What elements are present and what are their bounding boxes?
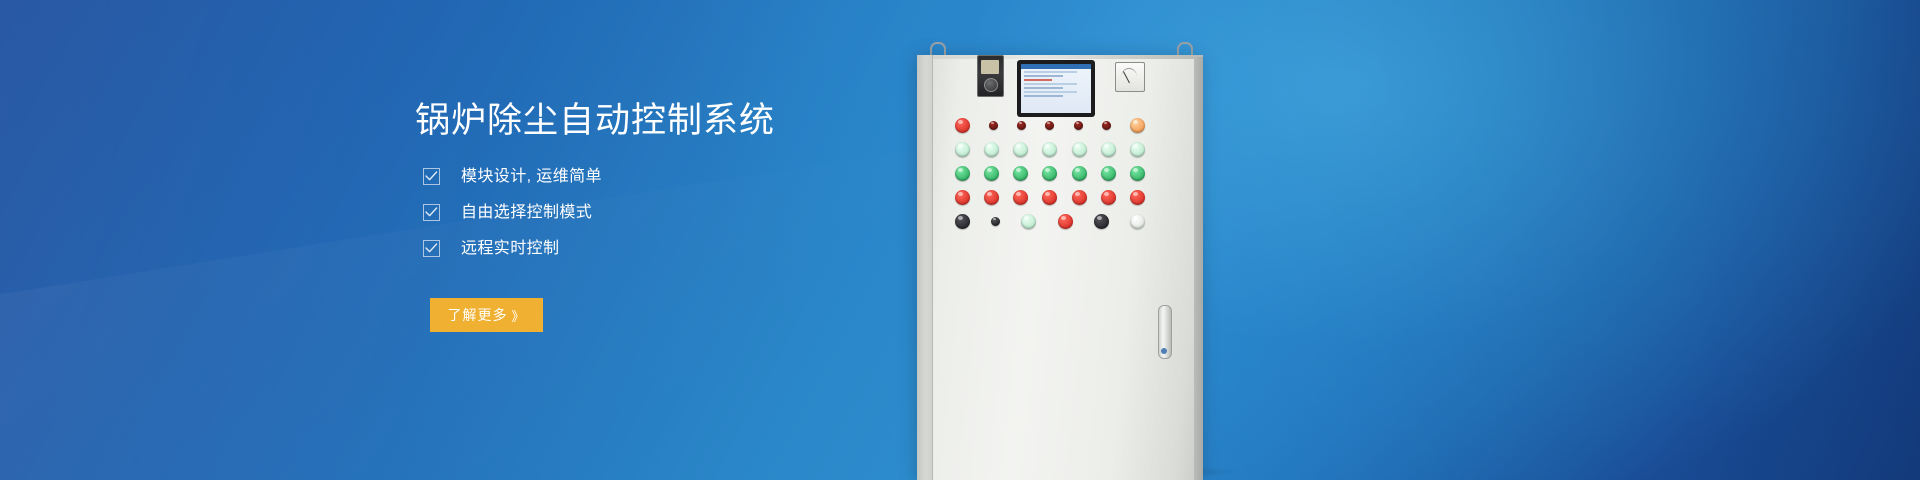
feature-item-1: 模块设计, 运维简单 bbox=[415, 168, 885, 185]
hero-banner: 锅炉除尘自动控制系统 模块设计, 运维简单 自由选择控制模式 bbox=[0, 0, 1920, 480]
feature-label-3: 远程实时控制 bbox=[461, 241, 559, 257]
cabinet-hinge-strip bbox=[917, 55, 933, 480]
lamp-row bbox=[955, 142, 1145, 157]
learn-more-button[interactable]: 了解更多 》 bbox=[430, 298, 543, 332]
display-row bbox=[1024, 91, 1077, 93]
feature-label-1: 模块设计, 运维简单 bbox=[461, 169, 602, 185]
cabinet-right-edge bbox=[1194, 57, 1203, 480]
display-row bbox=[1024, 71, 1077, 73]
push-button-lamp[interactable] bbox=[955, 214, 970, 229]
indicator-lamp[interactable] bbox=[955, 190, 970, 205]
display-row bbox=[1024, 75, 1063, 77]
chevron-right-icon: 》 bbox=[511, 306, 525, 325]
indicator-lamp[interactable] bbox=[984, 166, 999, 181]
push-button-lamp[interactable] bbox=[1058, 214, 1073, 229]
indicator-lamp[interactable] bbox=[1101, 190, 1116, 205]
checkbox-icon bbox=[423, 204, 440, 221]
indicator-lamp[interactable] bbox=[1102, 121, 1111, 130]
indicator-lamp[interactable] bbox=[1017, 121, 1026, 130]
feature-list: 模块设计, 运维简单 自由选择控制模式 远程实时控制 bbox=[415, 168, 885, 257]
indicator-lamp[interactable] bbox=[1042, 166, 1057, 181]
indicator-lamp[interactable] bbox=[1072, 190, 1087, 205]
push-button-lamp[interactable] bbox=[991, 217, 1000, 226]
lamp-row bbox=[955, 214, 1145, 229]
indicator-lamp[interactable] bbox=[1074, 121, 1083, 130]
indicator-lamp[interactable] bbox=[1101, 142, 1116, 157]
lamp-row bbox=[955, 190, 1145, 205]
display-row bbox=[1024, 95, 1063, 97]
indicator-lamp[interactable] bbox=[955, 166, 970, 181]
learn-more-label: 了解更多 bbox=[447, 305, 507, 325]
touch-panel-display bbox=[1017, 60, 1095, 117]
indicator-lamp[interactable] bbox=[1013, 190, 1028, 205]
indicator-lamp[interactable] bbox=[1045, 121, 1054, 130]
cabinet-top-edge bbox=[917, 55, 1203, 59]
indicator-lamp[interactable] bbox=[1042, 190, 1057, 205]
door-lock-icon bbox=[1161, 348, 1167, 354]
display-row bbox=[1024, 79, 1052, 81]
display-screen bbox=[1021, 64, 1091, 113]
push-button-lamp[interactable] bbox=[1094, 214, 1109, 229]
push-button-lamp[interactable] bbox=[1130, 214, 1145, 229]
hero-copy-block: 锅炉除尘自动控制系统 模块设计, 运维简单 自由选择控制模式 bbox=[415, 100, 885, 332]
feature-item-3: 远程实时控制 bbox=[415, 240, 885, 257]
indicator-lamp[interactable] bbox=[1013, 142, 1028, 157]
analog-gauge-icon bbox=[1115, 62, 1145, 92]
indicator-lamp[interactable] bbox=[1072, 142, 1087, 157]
push-button-lamp[interactable] bbox=[1021, 214, 1036, 229]
checkbox-icon bbox=[423, 240, 440, 257]
checkbox-icon bbox=[423, 168, 440, 185]
indicator-lamp[interactable] bbox=[984, 142, 999, 157]
selector-dial bbox=[984, 78, 998, 92]
indicator-lamp[interactable] bbox=[955, 118, 970, 133]
control-cabinet-image bbox=[905, 0, 1235, 480]
indicator-lamp[interactable] bbox=[1130, 166, 1145, 181]
indicator-lamp[interactable] bbox=[1130, 118, 1145, 133]
indicator-lamp[interactable] bbox=[955, 142, 970, 157]
indicator-lamp[interactable] bbox=[1042, 142, 1057, 157]
indicator-lamp[interactable] bbox=[989, 121, 998, 130]
rotary-selector-switch-icon bbox=[977, 55, 1004, 97]
display-row bbox=[1024, 83, 1077, 85]
indicator-lamp[interactable] bbox=[984, 190, 999, 205]
indicator-lamp[interactable] bbox=[1130, 190, 1145, 205]
cabinet-door-handle[interactable] bbox=[1158, 305, 1172, 359]
indicator-lamp-grid bbox=[955, 118, 1145, 238]
display-row bbox=[1024, 87, 1063, 89]
lamp-row bbox=[955, 118, 1145, 133]
feature-item-2: 自由选择控制模式 bbox=[415, 204, 885, 221]
indicator-lamp[interactable] bbox=[1130, 142, 1145, 157]
page-title: 锅炉除尘自动控制系统 bbox=[415, 100, 885, 142]
indicator-lamp[interactable] bbox=[1072, 166, 1087, 181]
indicator-lamp[interactable] bbox=[1013, 166, 1028, 181]
feature-label-2: 自由选择控制模式 bbox=[461, 205, 592, 221]
indicator-lamp[interactable] bbox=[1101, 166, 1116, 181]
selector-face bbox=[981, 60, 999, 74]
display-titlebar bbox=[1021, 64, 1091, 69]
lamp-row bbox=[955, 166, 1145, 181]
